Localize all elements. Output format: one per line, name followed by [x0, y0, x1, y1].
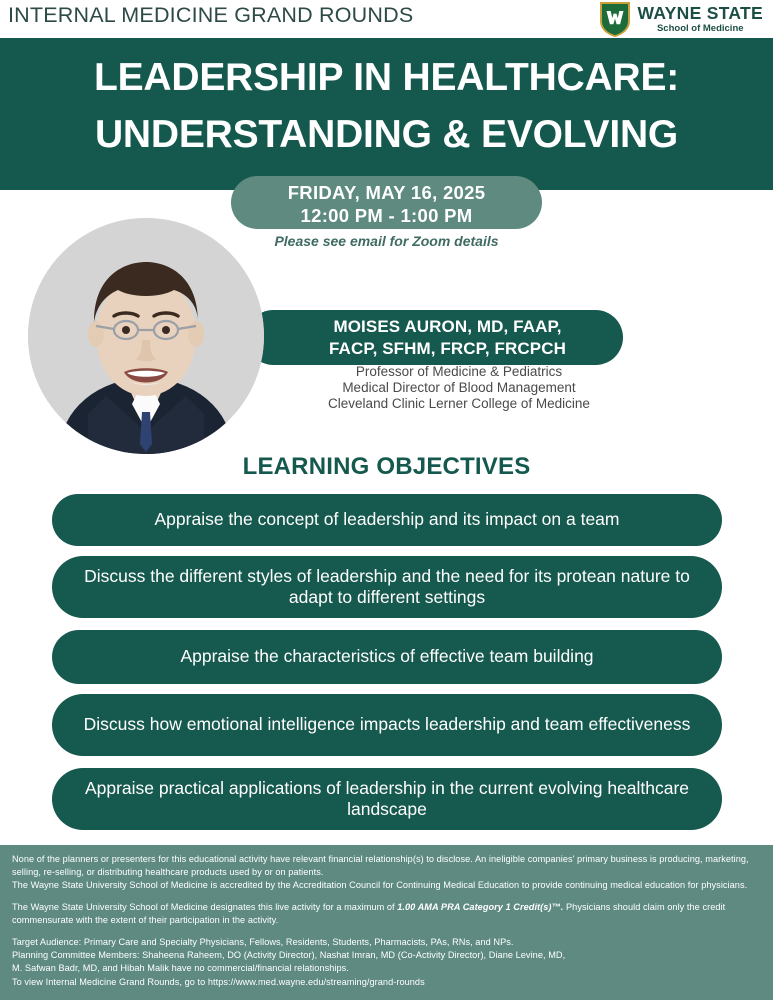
target-audience: Target Audience: Primary Care and Specia… — [12, 936, 761, 949]
title-banner: LEADERSHIP IN HEALTHCARE: UNDERSTANDING … — [0, 38, 773, 190]
speaker-name-line2: FACP, SFHM, FRCP, FRCPCH — [272, 338, 623, 360]
credit-prefix: The Wayne State University School of Med… — [12, 902, 397, 912]
event-time: 12:00 PM - 1:00 PM — [231, 205, 542, 227]
affiliation-line-1: Professor of Medicine & Pediatrics — [272, 364, 646, 380]
speaker-name-pill: MOISES AURON, MD, FAAP, FACP, SFHM, FRCP… — [246, 310, 623, 365]
lecture-title-line2: UNDERSTANDING & EVOLVING — [0, 113, 773, 157]
event-date: FRIDAY, MAY 16, 2025 — [231, 182, 542, 204]
planning-committee-line-1: Planning Committee Members: Shaheena Rah… — [12, 949, 761, 962]
wayne-state-shield-icon — [598, 0, 632, 38]
affiliation-line-3: Cleveland Clinic Lerner College of Medic… — [272, 396, 646, 412]
objective-item-4: Discuss how emotional intelligence impac… — [52, 694, 722, 756]
accreditation-footer: None of the planners or presenters for t… — [0, 845, 773, 1000]
accreditation-statement: The Wayne State University School of Med… — [12, 879, 761, 892]
logo-name: WAYNE STATE — [638, 5, 764, 23]
grand-rounds-flyer: INTERNAL MEDICINE GRAND ROUNDS WAYNE STA… — [0, 0, 773, 1000]
objective-item-1: Appraise the concept of leadership and i… — [52, 494, 722, 546]
lecture-title-line1: LEADERSHIP IN HEALTHCARE: — [0, 56, 773, 100]
speaker-headshot — [28, 218, 264, 454]
learning-objectives-heading: LEARNING OBJECTIVES — [0, 453, 773, 481]
credit-amount: 1.00 AMA PRA Category 1 Credit(s)™. — [397, 902, 563, 912]
logo-subtitle: School of Medicine — [638, 24, 764, 34]
objective-item-2: Discuss the different styles of leadersh… — [52, 556, 722, 618]
speaker-affiliation: Professor of Medicine & Pediatrics Medic… — [246, 364, 646, 412]
grand-rounds-link[interactable]: To view Internal Medicine Grand Rounds, … — [12, 976, 761, 989]
speaker-name-line1: MOISES AURON, MD, FAAP, — [272, 316, 623, 338]
zoom-details-note: Please see email for Zoom details — [231, 233, 542, 249]
disclosure-statement: None of the planners or presenters for t… — [12, 853, 761, 879]
affiliation-line-2: Medical Director of Blood Management — [272, 380, 646, 396]
wayne-state-logo: WAYNE STATE School of Medicine — [598, 0, 764, 38]
objective-item-5: Appraise practical applications of leade… — [52, 768, 722, 830]
planning-committee-line-2: M. Safwan Badr, MD, and Hibah Malik have… — [12, 962, 761, 975]
top-header-bar: INTERNAL MEDICINE GRAND ROUNDS WAYNE STA… — [0, 0, 773, 38]
event-datetime-pill: FRIDAY, MAY 16, 2025 12:00 PM - 1:00 PM — [231, 176, 542, 229]
series-title: INTERNAL MEDICINE GRAND ROUNDS — [8, 3, 413, 28]
credit-designation-statement: The Wayne State University School of Med… — [12, 901, 761, 927]
wayne-state-logo-text: WAYNE STATE School of Medicine — [638, 5, 764, 34]
objective-item-3: Appraise the characteristics of effectiv… — [52, 630, 722, 684]
